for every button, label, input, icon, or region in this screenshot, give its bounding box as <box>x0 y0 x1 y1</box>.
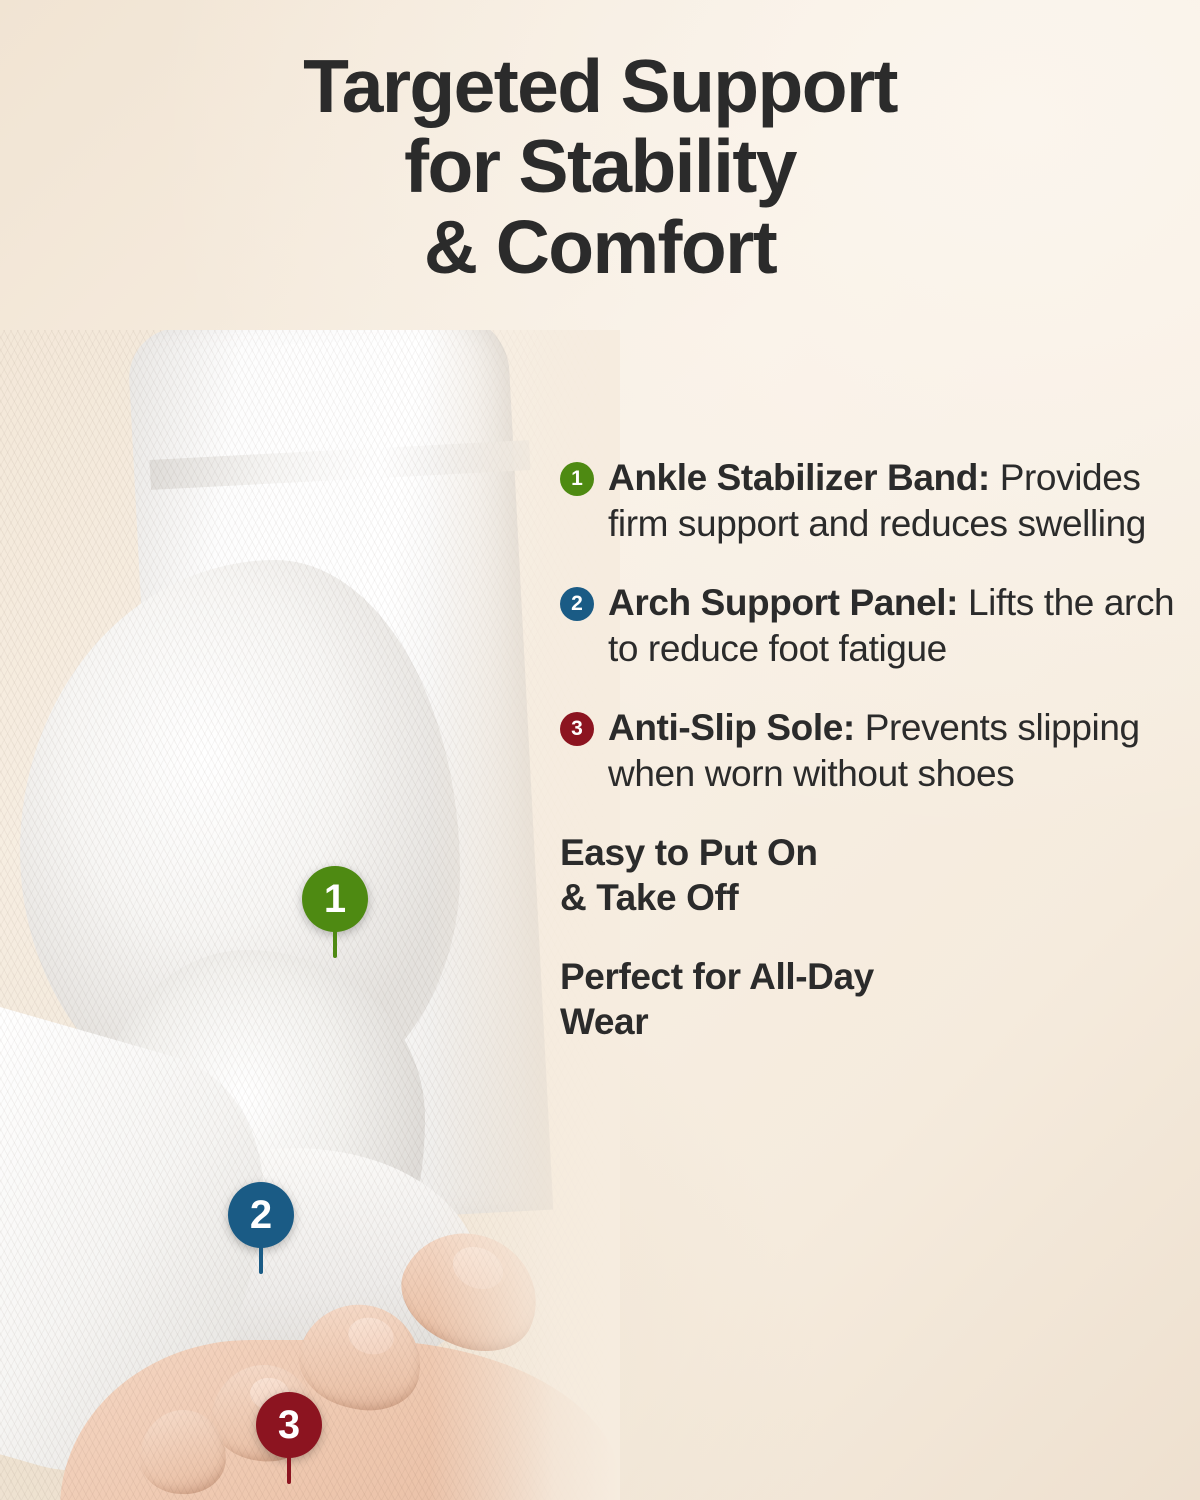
plain-feature-2: Perfect for All-Day Wear <box>560 954 1180 1044</box>
headline-line-1: Targeted Support <box>0 46 1200 126</box>
feature-item-1: 1 Ankle Stabilizer Band: Provides firm s… <box>560 455 1180 546</box>
feature-title-2: Arch Support Panel: <box>608 582 958 623</box>
plain-feature-1-line-2: & Take Off <box>560 875 1180 920</box>
plain-feature-1-line-1: Easy to Put On <box>560 830 1180 875</box>
callout-marker-1-number: 1 <box>324 877 346 922</box>
page-title: Targeted Support for Stability & Comfort <box>0 46 1200 287</box>
feature-title-3: Anti-Slip Sole: <box>608 707 855 748</box>
product-photo: 1 2 3 <box>0 330 620 1500</box>
feature-badge-3: 3 <box>560 712 594 746</box>
headline-line-2: for Stability <box>0 126 1200 206</box>
callout-marker-2-number: 2 <box>250 1193 272 1238</box>
callout-marker-1-stem <box>333 928 337 958</box>
product-feature-poster: Targeted Support for Stability & Comfort… <box>0 0 1200 1500</box>
feature-badge-1-number: 1 <box>571 467 583 491</box>
callout-marker-3-stem <box>287 1454 291 1484</box>
plain-feature-2-line-1: Perfect for All-Day <box>560 954 1180 999</box>
feature-item-3: 3 Anti-Slip Sole: Prevents slipping when… <box>560 705 1180 796</box>
feature-list: 1 Ankle Stabilizer Band: Provides firm s… <box>560 455 1180 1079</box>
feature-badge-2: 2 <box>560 587 594 621</box>
callout-marker-1: 1 <box>302 866 368 932</box>
callout-marker-2: 2 <box>228 1182 294 1248</box>
feature-text-2: Arch Support Panel: Lifts the arch to re… <box>608 580 1180 671</box>
plain-feature-2-line-2: Wear <box>560 999 1180 1044</box>
callout-marker-3-number: 3 <box>278 1403 300 1448</box>
feature-title-1: Ankle Stabilizer Band: <box>608 457 990 498</box>
feature-badge-3-number: 3 <box>571 717 583 741</box>
feature-badge-2-number: 2 <box>571 592 583 616</box>
headline-line-3: & Comfort <box>0 207 1200 287</box>
callout-marker-3: 3 <box>256 1392 322 1458</box>
feature-badge-1: 1 <box>560 462 594 496</box>
feature-text-3: Anti-Slip Sole: Prevents slipping when w… <box>608 705 1180 796</box>
feature-text-1: Ankle Stabilizer Band: Provides firm sup… <box>608 455 1180 546</box>
plain-feature-1: Easy to Put On & Take Off <box>560 830 1180 920</box>
callout-marker-2-stem <box>259 1244 263 1274</box>
feature-item-2: 2 Arch Support Panel: Lifts the arch to … <box>560 580 1180 671</box>
